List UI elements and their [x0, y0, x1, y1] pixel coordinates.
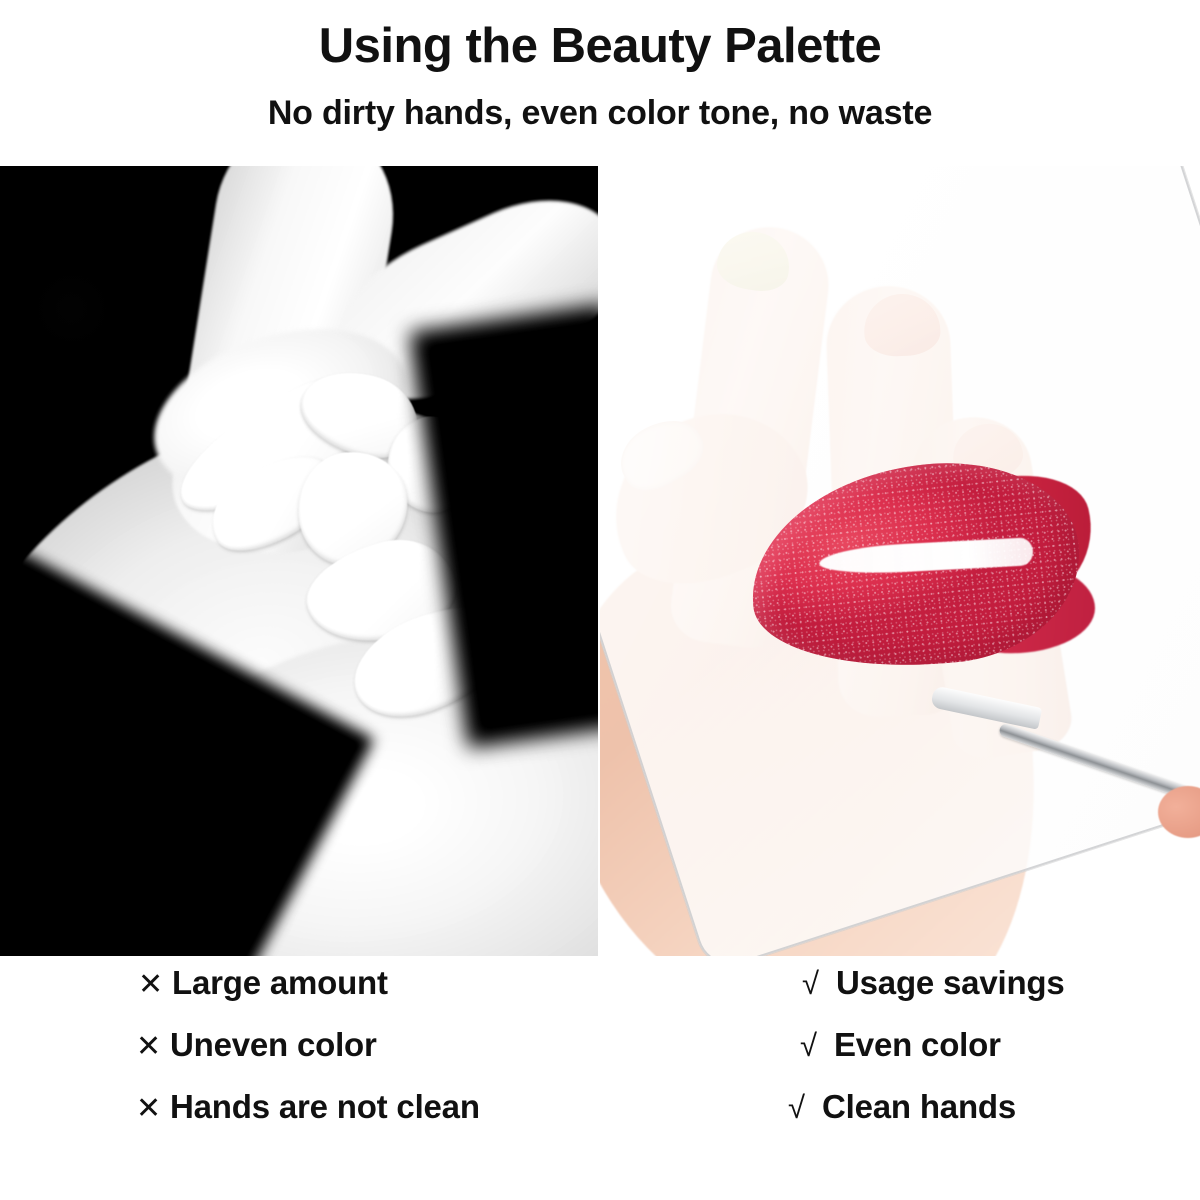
pros-list: √ Usage savings √ Even color √ Clean han…	[798, 966, 1065, 1152]
comparison-lists: ✕ Large amount ✕ Uneven color ✕ Hands ar…	[0, 966, 1200, 1200]
check-icon: √	[788, 1092, 822, 1123]
pros-item-label: Even color	[834, 1028, 1001, 1061]
check-icon: √	[800, 1030, 834, 1061]
cross-icon: ✕	[136, 1094, 170, 1124]
palette-photo	[600, 166, 1200, 956]
cons-item-label: Large amount	[172, 966, 388, 999]
cross-icon: ✕	[138, 970, 172, 1000]
photo-comparison-row	[0, 166, 1200, 956]
pros-list-item-3: √ Clean hands	[788, 1090, 1065, 1152]
check-icon: √	[802, 968, 836, 999]
infographic-page: Using the Beauty Palette No dirty hands,…	[0, 0, 1200, 1200]
red-cream-swatch	[740, 449, 1089, 682]
cons-item-label: Hands are not clean	[170, 1090, 480, 1123]
cross-icon: ✕	[136, 1032, 170, 1062]
cons-list: ✕ Large amount ✕ Uneven color ✕ Hands ar…	[138, 966, 480, 1152]
cons-list-item-2: ✕ Uneven color	[136, 1028, 480, 1090]
pros-item-label: Clean hands	[822, 1090, 1016, 1123]
page-title: Using the Beauty Palette	[0, 22, 1200, 71]
pros-list-item-1: √ Usage savings	[802, 966, 1065, 1028]
cons-list-item-3: ✕ Hands are not clean	[136, 1090, 480, 1152]
page-subtitle: No dirty hands, even color tone, no wast…	[0, 96, 1200, 130]
pros-list-item-2: √ Even color	[800, 1028, 1065, 1090]
header: Using the Beauty Palette No dirty hands,…	[0, 0, 1200, 160]
dirty-hand-photo	[0, 166, 598, 956]
cons-list-item-1: ✕ Large amount	[138, 966, 480, 1028]
pros-item-label: Usage savings	[836, 966, 1065, 999]
cons-item-label: Uneven color	[170, 1028, 377, 1061]
